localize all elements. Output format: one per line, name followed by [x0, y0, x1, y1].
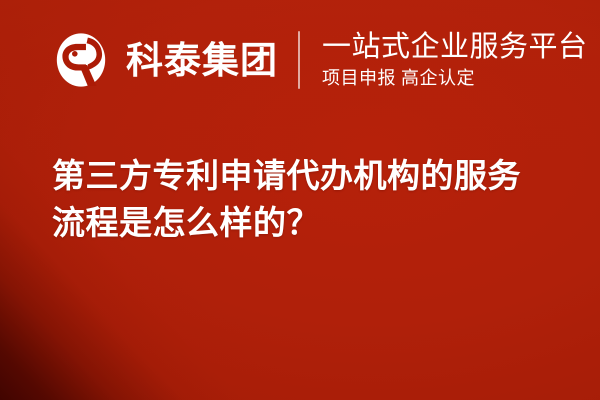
headline-title: 第三方专利申请代办机构的服务流程是怎么样的？ [52, 152, 552, 246]
slogan-block: 一站式企业服务平台 项目申报 高企认定 [322, 29, 588, 91]
slogan-sub: 项目申报 高企认定 [322, 69, 588, 88]
slogan-main: 一站式企业服务平台 [322, 32, 588, 63]
promo-banner: 科泰集团 一站式企业服务平台 项目申报 高企认定 第三方专利申请代办机构的服务流… [0, 0, 600, 400]
ketai-group-logo-icon [50, 29, 112, 91]
brand-header: 科泰集团 一站式企业服务平台 项目申报 高企认定 [50, 24, 588, 96]
header-divider [298, 31, 300, 89]
brand-name: 科泰集团 [126, 42, 278, 79]
